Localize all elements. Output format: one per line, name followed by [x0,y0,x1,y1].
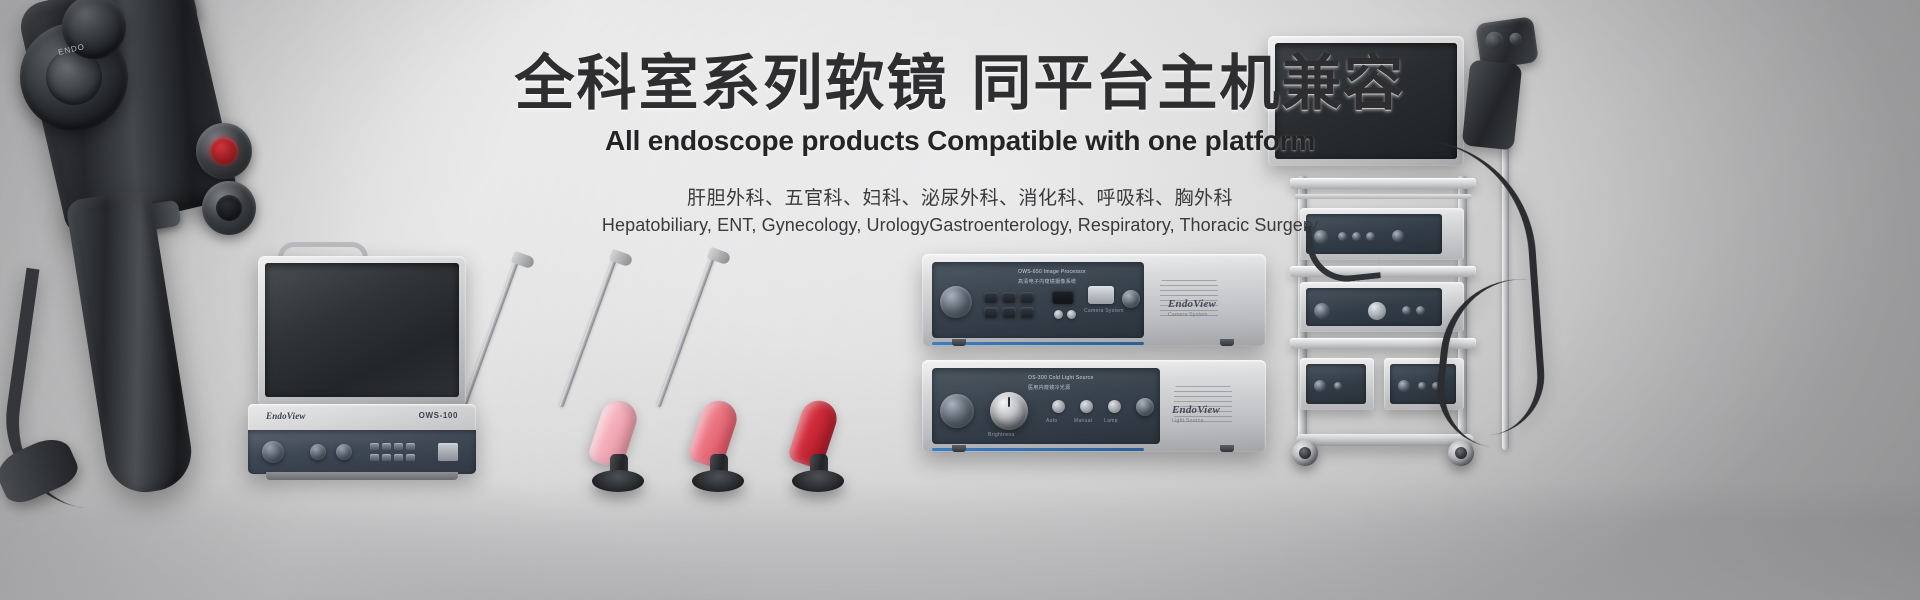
console-port-aux2 [336,444,352,460]
console-button-1 [370,443,379,450]
light-unit-foot-left [952,445,966,452]
console-port-aux1 [310,444,326,460]
headline-block: 全科室系列软镜 同平台主机兼容 All endoscope products C… [0,52,1920,236]
console-port-main [262,441,284,463]
console-button-7 [394,454,403,461]
camera-unit-led-2 [1067,310,1076,319]
subtitle-english: Hepatobiliary, ENT, Gynecology, UrologyG… [0,215,1920,236]
light-unit-title-cn: 医用内窥镜冷光源 [1028,384,1070,391]
camera-system-unit: OWS-650 Image Processor 高清电子内窥镜摄像系统 Came… [922,254,1266,346]
console-button-2 [382,443,391,450]
cart-scope-dial [1484,31,1504,51]
light-unit-button-lamp [1108,400,1121,413]
camera-unit-button-5 [1002,307,1016,318]
light-unit-output-port [940,394,974,428]
light-unit-brightness-knob[interactable] [990,392,1028,430]
camera-unit-button-zoom [984,307,998,318]
monitor-console-product: EndoView OWS-100 [232,248,492,480]
console-power-button [438,443,458,461]
light-source-unit: OS-300 Cold Light Source 医用内窥镜冷光源 Bright… [922,360,1266,452]
cart-unit-bl-led [1334,382,1342,390]
cart-unit-middle-knob [1368,302,1386,320]
camera-unit-led-1 [1054,310,1063,319]
monitor-display-screen [265,263,459,397]
camera-unit-front-panel: OWS-650 Image Processor 高清电子内窥镜摄像系统 Came… [932,262,1144,338]
camera-unit-title-cn: 高清电子内窥镜摄像系统 [1018,278,1076,285]
light-unit-front-panel: OS-300 Cold Light Source 医用内窥镜冷光源 Bright… [932,368,1160,444]
cart-caster-right [1448,440,1474,466]
camera-unit-title-en: OWS-650 Image Processor [1018,269,1086,275]
cart-unit-bottom-left-panel [1306,364,1366,404]
surgical-instrument-3 [706,254,858,488]
camera-unit-display [1052,290,1074,304]
headline-english: All endoscope products Compatible with o… [0,125,1920,157]
cart-unit-bottom-left [1300,358,1374,410]
cart-unit-bl-port [1314,380,1326,392]
light-unit-brand: EndoView [1172,404,1220,416]
cart-caster-left [1292,440,1318,466]
camera-unit-button-6 [1020,307,1034,318]
light-unit-btn-label-1: Auto [1046,418,1058,424]
floor-reflection [0,520,1920,600]
camera-unit-foot-right [1220,339,1234,346]
console-button-6 [382,454,391,461]
camera-unit-foot-left [952,339,966,346]
monitor-bezel [258,256,466,406]
console-button-8 [406,454,415,461]
light-unit-title-en: OS-300 Cold Light Source [1028,375,1094,381]
cart-unit-br-port [1398,380,1410,392]
camera-unit-button-menu [1002,292,1016,303]
light-unit-aux-port [1136,398,1154,416]
light-unit-foot-right [1220,445,1234,452]
console-control-panel [248,430,476,474]
cart-scope-valve [1509,32,1523,46]
camera-unit-usb-slot [1088,286,1114,304]
camera-unit-submark: Camera System [1084,308,1124,314]
console-button-5 [370,454,379,461]
banner-root: ENDO EndoView OWS-100 [0,0,1920,600]
camera-unit-brand-sub: Camera System [1168,312,1208,318]
console-model-label: OWS-100 [419,411,458,420]
light-unit-button-manual [1080,400,1093,413]
camera-unit-button-wb [984,292,998,303]
control-units-stack: OWS-650 Image Processor 高清电子内窥镜摄像系统 Came… [922,250,1274,460]
camera-unit-aux-port [1122,290,1140,308]
console-brand-label: EndoView [266,411,306,421]
cart-unit-middle-led-1 [1402,306,1411,315]
light-unit-knob-label: Brightness [988,432,1015,438]
instrument-base-3 [792,470,844,492]
light-unit-btn-label-2: Manual [1074,418,1092,424]
console-button-4 [406,443,415,450]
headline-chinese: 全科室系列软镜 同平台主机兼容 [0,52,1920,117]
camera-unit-main-port [940,286,972,318]
console-feet [266,472,458,480]
console-button-3 [394,443,403,450]
light-unit-button-auto [1052,400,1065,413]
subtitle-chinese: 肝胆外科、五官科、妇科、泌尿外科、消化科、呼吸科、胸外科 [0,183,1920,210]
camera-unit-brand: EndoView [1168,298,1216,310]
light-unit-brand-sub: Light Source [1172,418,1204,424]
light-unit-btn-label-3: Lamp [1104,418,1118,424]
cart-unit-middle-port [1314,303,1330,319]
camera-unit-button-rec [1020,292,1034,303]
